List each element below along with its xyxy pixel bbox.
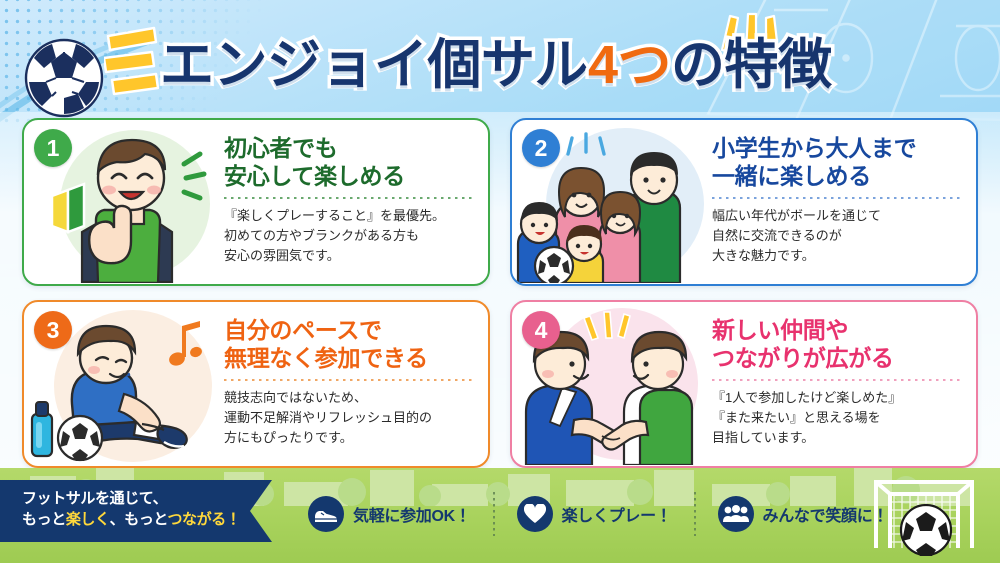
card-4-illustration: 4	[512, 302, 708, 466]
soccer-ball-icon	[22, 36, 106, 120]
infographic-root: エンジョイ個サル4つの特徴 1	[0, 0, 1000, 563]
card-2-illustration: 2	[512, 120, 708, 284]
card-4-title: 新しい仲間や つながりが広がる	[712, 316, 962, 372]
ribbon-line-1: フットサルを通じて、	[22, 488, 262, 509]
footer-chip-smile[interactable]: みんなで笑顔に！	[696, 496, 911, 532]
chip-separator-2	[694, 492, 696, 536]
feature-card-2[interactable]: 2	[510, 118, 978, 286]
footer-chip-play[interactable]: 楽しくプレー！	[495, 496, 694, 532]
card-1-title: 初心者でも 安心して楽しめる	[224, 134, 474, 190]
card-4-divider	[712, 379, 962, 381]
card-1-body: 『楽しくプレーすること』を最優先。 初めての方やブランクがある方も 安心の雰囲気…	[224, 206, 474, 266]
chip-separator-1	[493, 492, 495, 536]
feature-card-1[interactable]: 1	[22, 118, 490, 286]
sneaker-icon	[308, 496, 344, 532]
feature-card-3[interactable]: 3	[22, 300, 490, 468]
sparkle-lines-icon	[568, 134, 604, 154]
card-3-number-badge: 3	[34, 311, 72, 349]
title-accent: 4つ	[588, 35, 671, 95]
footer-chip-join-label: 気軽に参加OK！	[353, 502, 471, 526]
card-2-divider	[712, 197, 962, 199]
card-3-title: 自分のペースで 無理なく参加できる	[224, 316, 474, 372]
card-3-divider	[224, 379, 474, 381]
card-4-number-badge: 4	[522, 311, 560, 349]
card-2-body: 幅広い年代がボールを通じて 自然に交流できるのが 大きな魅力です。	[712, 206, 962, 266]
feature-card-4[interactable]: 4	[510, 300, 978, 468]
ribbon-line-2d: つながる！	[167, 511, 240, 528]
sparkle-burst-icon	[584, 312, 630, 340]
music-note-icon	[167, 321, 203, 368]
ribbon-message: フットサルを通じて、 もっと楽しく、もっとつながる！	[22, 488, 262, 531]
card-2-title: 小学生から大人まで 一緒に楽しめる	[712, 134, 962, 190]
beginner-mark-icon	[52, 184, 84, 232]
ribbon-line-2: もっと楽しく、もっとつながる！	[22, 509, 262, 530]
speed-lines-icon	[104, 26, 166, 98]
heart-icon	[517, 496, 553, 532]
card-2-number-badge: 2	[522, 129, 560, 167]
footer-band: フットサルを通じて、 もっと楽しく、もっとつながる！ 気軽に参加OK！	[0, 468, 1000, 563]
card-3-illustration: 3	[24, 302, 220, 466]
title-tail: の特徴	[671, 35, 832, 95]
title-main: エンジョイ個サル	[160, 35, 588, 95]
footer-chip-play-label: 楽しくプレー！	[562, 502, 672, 526]
water-bottle-icon	[32, 402, 52, 456]
feature-card-grid: 1	[22, 118, 978, 468]
footer-chip-smile-label: みんなで笑顔に！	[763, 502, 889, 526]
footer-chip-join[interactable]: 気軽に参加OK！	[286, 496, 493, 532]
card-4-body: 『1人で参加したけど楽しめた』 『また来たい』と思える場を 目指しています。	[712, 388, 962, 448]
footer-chip-list: 気軽に参加OK！ 楽しくプレー！	[286, 492, 910, 536]
ribbon-line-2c: 、もっと	[110, 511, 168, 528]
people-icon	[718, 496, 754, 532]
card-1-illustration: 1	[24, 120, 220, 284]
page-title: エンジョイ個サル4つの特徴	[160, 22, 920, 108]
card-1-number-badge: 1	[34, 129, 72, 167]
card-3-body: 競技志向ではないため、 運動不足解消やリフレッシュ目的の 方にもぴったりです。	[224, 388, 474, 448]
action-lines-icon	[184, 154, 204, 198]
card-1-divider	[224, 197, 474, 199]
ribbon-line-2a: もっと	[22, 511, 66, 528]
ribbon-line-2b: 楽しく	[66, 511, 110, 528]
